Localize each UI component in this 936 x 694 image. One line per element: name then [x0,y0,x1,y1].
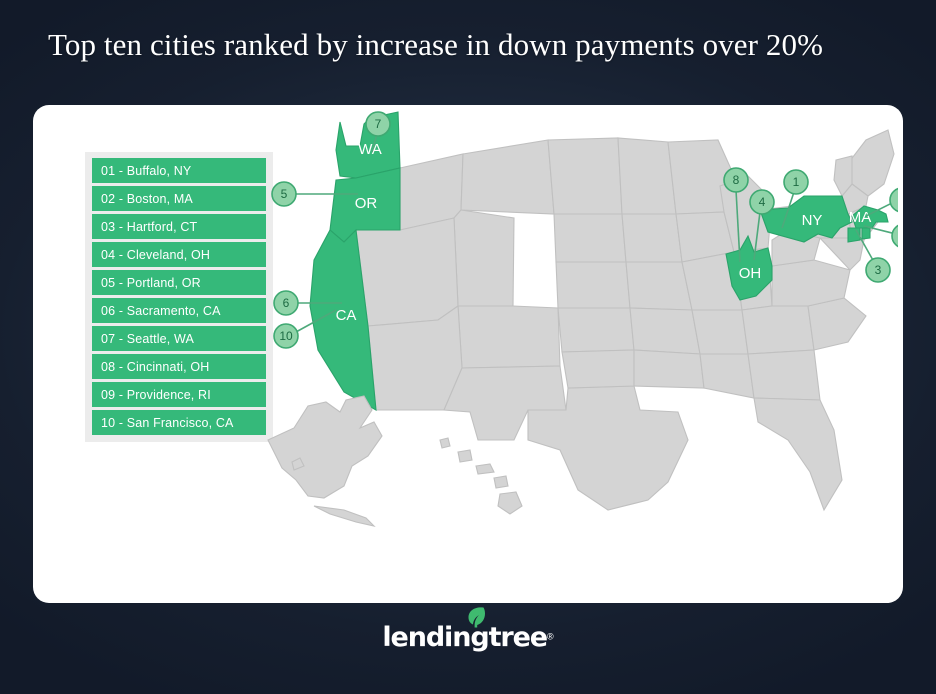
legend-item-label: 07 - Seattle, WA [101,332,194,346]
legend-item-6[interactable]: 06 - Sacramento, CA [92,298,266,323]
gray-states-group [356,130,894,510]
state-TN-w [692,310,748,354]
legend-item-5[interactable]: 05 - Portland, OR [92,270,266,295]
state-KS [558,308,634,352]
state-label-OH: OH [739,265,762,282]
legend-item-label: 10 - San Francisco, CA [101,416,234,430]
state-HI-maui [494,476,508,488]
legend-item-10[interactable]: 10 - San Francisco, CA [92,410,266,435]
state-MS [700,354,754,398]
state-AL-GA [748,350,820,400]
rank-marker-circle [892,224,898,248]
legend-item-label: 08 - Cincinnati, OH [101,360,209,374]
legend-item-label: 06 - Sacramento, CA [101,304,221,318]
rank-marker-label: 6 [283,296,290,310]
rank-marker-7[interactable]: 7 [366,112,390,136]
state-NC-SC [808,298,866,350]
state-RI-highlight [862,228,870,239]
legend-item-9[interactable]: 09 - Providence, RI [92,382,266,407]
leaf-icon [466,606,486,633]
legend-item-4[interactable]: 04 - Cleveland, OH [92,242,266,267]
legend-item-label: 05 - Portland, OR [101,276,201,290]
legend-item-label: 03 - Hartford, CT [101,220,197,234]
state-LA-w [634,350,704,388]
legend-item-label: 09 - Providence, RI [101,388,211,402]
rank-marker-2[interactable]: 2 [890,188,898,212]
state-KY-TN [742,306,814,354]
state-label-MA: MA [849,209,872,226]
state-OK [562,350,634,388]
state-SD [554,214,626,262]
rank-marker-10[interactable]: 10 [274,324,298,348]
legend-item-8[interactable]: 08 - Cincinnati, OH [92,354,266,379]
brand-footer: lendingtree® [0,622,936,653]
state-VA-WV [772,260,850,306]
state-WY [454,210,514,306]
rank-marker-1[interactable]: 1 [784,170,808,194]
state-IA [622,214,682,262]
state-label-CA: CA [336,307,357,324]
state-MO-w [626,262,692,310]
state-AK-aleutians [314,506,374,526]
rank-marker-label: 10 [279,329,293,343]
brand-name: lendingtree [382,622,547,653]
rank-marker-label: 5 [281,187,288,201]
state-HI-oahu [458,450,472,462]
state-NE [556,262,630,308]
state-CO [458,306,560,368]
state-label-OR: OR [355,195,378,212]
legend-item-2[interactable]: 02 - Boston, MA [92,186,266,211]
rank-marker-6[interactable]: 6 [274,291,298,315]
state-HI-molokai [476,464,494,474]
rank-marker-4[interactable]: 4 [750,190,774,214]
page-title: Top ten cities ranked by increase in dow… [48,27,823,63]
trademark-symbol: ® [547,632,554,642]
state-ND [548,138,622,214]
rank-marker-8[interactable]: 8 [724,168,748,192]
legend-item-label: 02 - Boston, MA [101,192,193,206]
state-AR-w [630,308,700,354]
legend-item-label: 04 - Cleveland, OH [101,248,210,262]
rank-marker-5[interactable]: 5 [272,182,296,206]
legend-item-label: 01 - Buffalo, NY [101,164,191,178]
rank-marker-circle [890,188,898,212]
us-choropleth-map: WA OR CA OH NY MA 7 5 [248,110,898,580]
state-NV-UT [356,218,458,326]
state-MT [461,140,554,214]
rank-marker-label: 1 [793,175,800,189]
rank-marker-label: 7 [375,117,382,131]
state-MN-w [618,138,676,214]
rank-marker-9[interactable]: 9 [892,224,898,248]
legend-item-3[interactable]: 03 - Hartford, CT [92,214,266,239]
rank-marker-label: 4 [759,195,766,209]
legend-item-1[interactable]: 01 - Buffalo, NY [92,158,266,183]
rank-marker-label: 3 [875,263,882,277]
rank-marker-label: 8 [733,173,740,187]
state-label-NY: NY [802,212,823,229]
state-HI-kauai [440,438,450,448]
state-label-WA: WA [358,141,382,158]
rank-marker-3[interactable]: 3 [866,258,890,282]
state-HI-bigisland [498,492,522,514]
city-ranking-legend: 01 - Buffalo, NY 02 - Boston, MA 03 - Ha… [85,152,273,442]
state-AK [268,396,382,498]
state-FL [754,398,842,510]
legend-item-7[interactable]: 07 - Seattle, WA [92,326,266,351]
content-card: 01 - Buffalo, NY 02 - Boston, MA 03 - Ha… [33,105,903,603]
